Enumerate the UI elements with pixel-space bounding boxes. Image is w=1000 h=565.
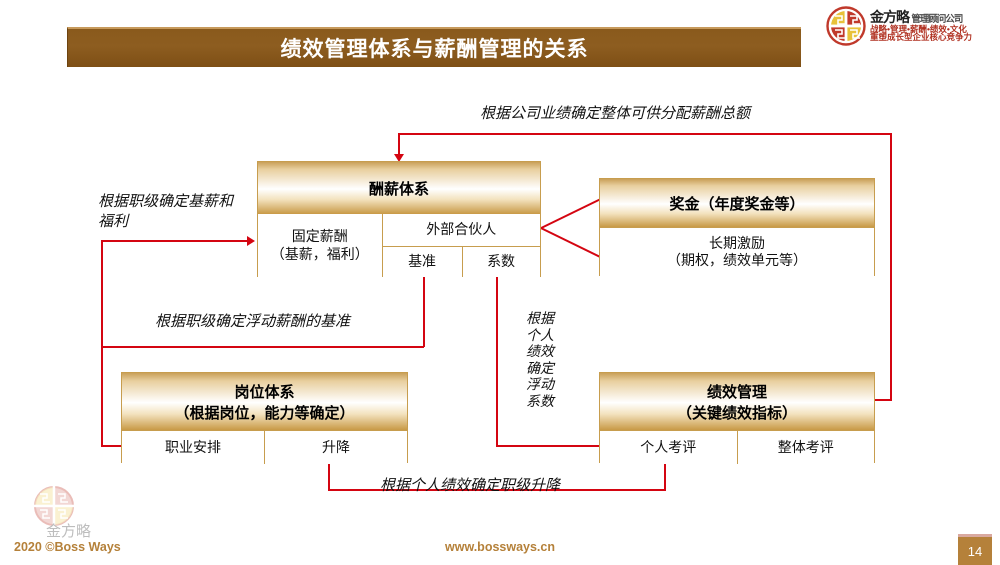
cell-fixed-pay[interactable]: 固定薪酬 （基薪，福利） [258, 214, 382, 277]
page-number-badge: 14 [958, 534, 992, 565]
box-bonus[interactable]: 奖金（年度奖金等） 长期激励 （期权，绩效单元等） [599, 178, 875, 276]
long-term-line1: 长期激励 [709, 235, 765, 253]
position-header-line1: 岗位体系 [234, 381, 294, 402]
cell-overall-review[interactable]: 整体考评 [737, 431, 875, 464]
center-vertical-line-1: 个人 [518, 327, 562, 344]
annotation-left-lower: 根据职级确定浮动薪酬的基准 [155, 312, 350, 332]
cell-external-partner[interactable]: 外部合伙人 [383, 214, 540, 246]
center-vertical-line-4: 浮动 [518, 376, 562, 393]
footer-website[interactable]: www.bossways.cn [0, 540, 1000, 554]
cell-promotion-demotion[interactable]: 升降 [264, 431, 407, 464]
connector-performance-drop [664, 463, 666, 491]
connector-coefficient-riser [496, 277, 498, 447]
company-logo: 金方略 管理顾问公司 战略•管理•薪酬•绩效•文化 重塑成长型企业核心竞争力 [826, 4, 994, 48]
long-term-line2: （期权，绩效单元等） [667, 252, 807, 270]
connector-promotion-riser [328, 463, 330, 491]
cell-long-term-incentive[interactable]: 长期激励 （期权，绩效单元等） [600, 227, 874, 276]
connector-left-to-base [101, 346, 424, 348]
cell-individual-review[interactable]: 个人考评 [600, 431, 737, 464]
cell-career-arrangement[interactable]: 职业安排 [122, 431, 264, 464]
position-header-line2: （根据岗位，能力等确定） [174, 402, 354, 423]
slide-title-bar: 绩效管理体系与薪酬管理的关系 [67, 27, 801, 67]
annotation-top: 根据公司业绩确定整体可供分配薪酬总额 [480, 104, 750, 124]
seal-watermark-icon: 金方略 [22, 482, 106, 542]
page-title: 绩效管理体系与薪酬管理的关系 [281, 33, 589, 63]
position-header: 岗位体系 （根据岗位，能力等确定） [122, 373, 407, 430]
annotation-center-vertical: 根据 个人 绩效 确定 浮动 系数 [518, 310, 562, 409]
connector-diagonal-lower [540, 227, 602, 259]
connector-top-drop [398, 133, 400, 156]
connector-right-to-performance [872, 399, 892, 401]
center-vertical-line-3: 确定 [518, 360, 562, 377]
connector-right-vertical [890, 133, 892, 401]
fixed-pay-line2: （基薪，福利） [271, 246, 369, 264]
logo-brand-name: 金方略 [870, 9, 909, 25]
center-vertical-line-0: 根据 [518, 310, 562, 327]
box-performance-management[interactable]: 绩效管理 （关键绩效指标） 个人考评 整体考评 [599, 372, 875, 463]
slide-footer: 2020 ©Boss Ways www.bossways.cn 14 [0, 534, 1000, 562]
compensation-header: 酬薪体系 [258, 162, 540, 214]
connector-top-horizontal [398, 133, 892, 135]
annotation-left-upper-line2: 福利 [98, 212, 253, 232]
performance-header-line1: 绩效管理 [707, 381, 767, 402]
cell-coefficient[interactable]: 系数 [462, 247, 540, 277]
center-vertical-line-5: 系数 [518, 393, 562, 410]
performance-header: 绩效管理 （关键绩效指标） [600, 373, 874, 430]
connector-base-riser [423, 277, 425, 347]
cell-base[interactable]: 基准 [383, 247, 462, 277]
arrow-into-fixed-pay [247, 236, 255, 246]
logo-tagline-2: 重塑成长型企业核心竞争力 [870, 33, 972, 42]
connector-diagonal-upper [541, 197, 603, 229]
connector-left-to-fixedpay [101, 240, 247, 242]
annotation-left-upper-line1: 根据职级确定基薪和 [98, 192, 253, 212]
seal-logo-icon [826, 6, 866, 46]
connector-left-vertical [101, 240, 103, 447]
box-position-system[interactable]: 岗位体系 （根据岗位，能力等确定） 职业安排 升降 [121, 372, 408, 463]
annotation-bottom: 根据个人绩效确定职级升降 [380, 476, 560, 496]
logo-suffix: 管理顾问公司 [911, 14, 962, 25]
annotation-left-upper: 根据职级确定基薪和 福利 [98, 192, 253, 233]
fixed-pay-line1: 固定薪酬 [292, 228, 348, 246]
connector-center-bottom [496, 445, 610, 447]
center-vertical-line-2: 绩效 [518, 343, 562, 360]
bonus-header: 奖金（年度奖金等） [600, 179, 874, 227]
performance-header-line2: （关键绩效指标） [677, 402, 797, 423]
box-compensation-system[interactable]: 酬薪体系 固定薪酬 （基薪，福利） 外部合伙人 基准 系数 [257, 161, 541, 277]
